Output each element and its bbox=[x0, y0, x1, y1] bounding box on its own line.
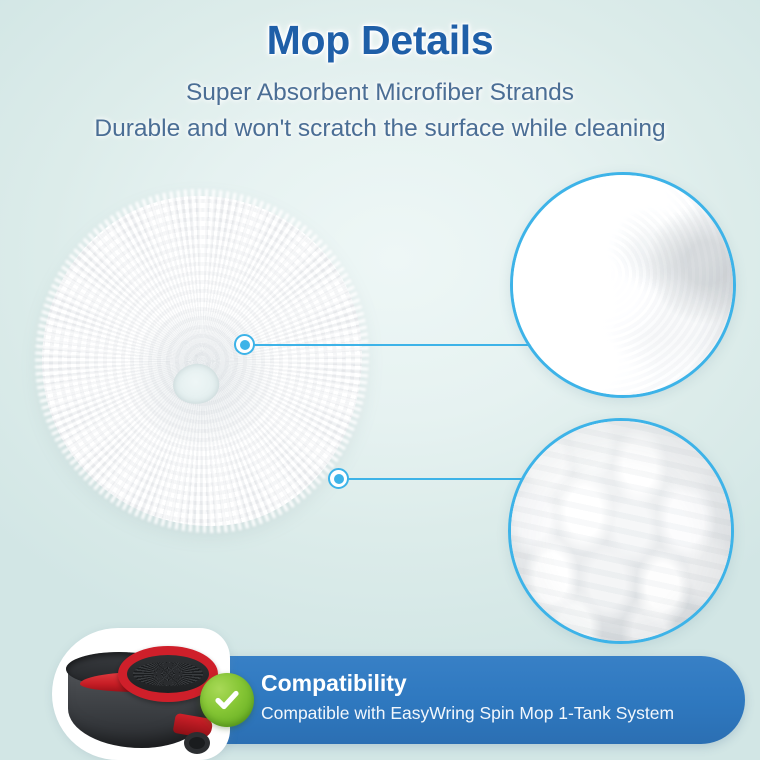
callout-line-bottom bbox=[345, 478, 530, 480]
header: Mop Details Super Absorbent Microfiber S… bbox=[0, 0, 760, 145]
bucket-wheel bbox=[184, 732, 210, 754]
compatibility-banner: Compatibility Compatible with EasyWring … bbox=[205, 656, 745, 744]
callout-marker-top[interactable] bbox=[234, 334, 255, 355]
callout-marker-bottom[interactable] bbox=[328, 468, 349, 489]
compatibility-description: Compatible with EasyWring Spin Mop 1-Tan… bbox=[261, 703, 723, 725]
callout-line-top bbox=[244, 344, 534, 346]
mop-head-image bbox=[42, 196, 362, 526]
detail-circle-microfiber-strands bbox=[510, 172, 736, 398]
microfiber-tuft-texture bbox=[508, 418, 734, 644]
check-circle-icon bbox=[200, 673, 254, 727]
microfiber-strand-texture bbox=[513, 175, 733, 395]
page-title: Mop Details bbox=[0, 18, 760, 64]
compatibility-heading: Compatibility bbox=[261, 670, 723, 698]
detail-circle-microfiber-tufts bbox=[508, 418, 734, 644]
subtitle-line-1: Super Absorbent Microfiber Strands bbox=[0, 77, 760, 109]
compatibility-text-group: Compatibility Compatible with EasyWring … bbox=[261, 670, 723, 724]
subtitle-line-2: Durable and won't scratch the surface wh… bbox=[0, 113, 760, 145]
infographic-page: Mop Details Super Absorbent Microfiber S… bbox=[0, 0, 760, 760]
